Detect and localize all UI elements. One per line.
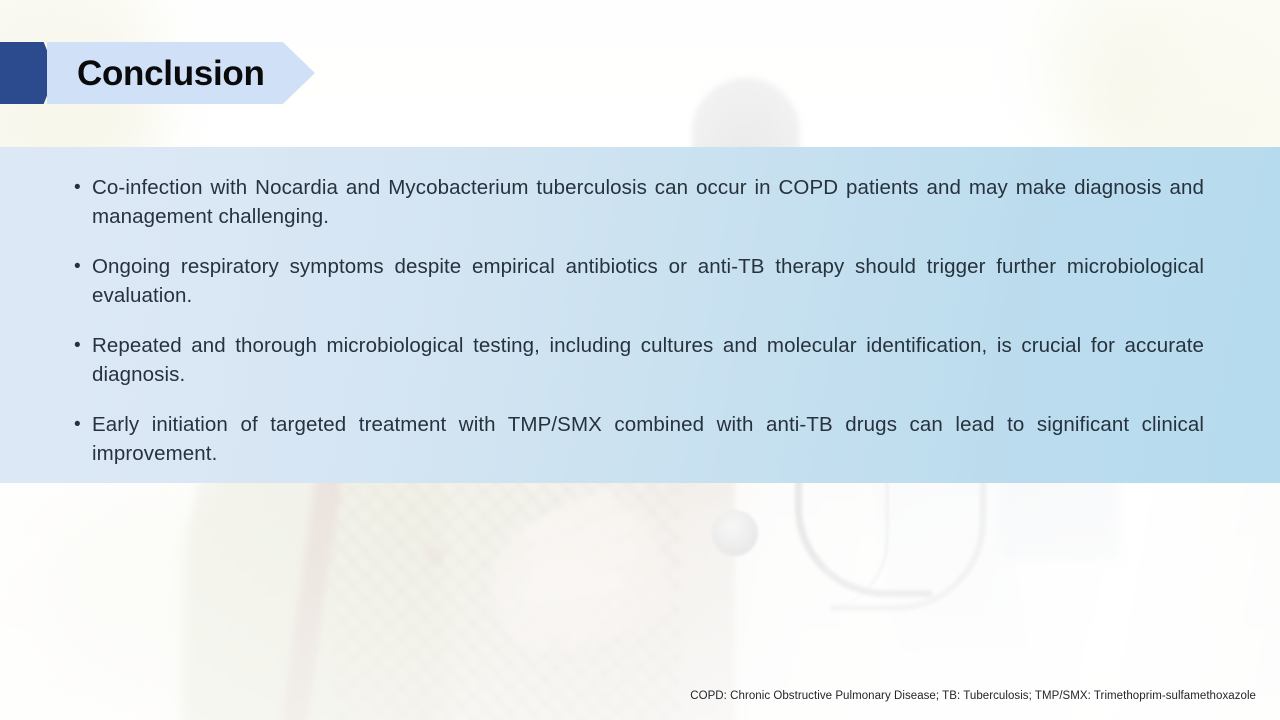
list-item: • Repeated and thorough microbiological …: [74, 331, 1204, 389]
abbreviation-footnote: COPD: Chronic Obstructive Pulmonary Dise…: [690, 690, 1256, 702]
content-panel: • Co-infection with Nocardia and Mycobac…: [0, 147, 1280, 483]
banner-light-chevron: Conclusion: [47, 42, 315, 104]
title-banner: Conclusion: [0, 42, 315, 104]
bullet-dot-icon: •: [74, 331, 92, 361]
bullet-text: Early initiation of targeted treatment w…: [92, 410, 1204, 468]
list-item: • Early initiation of targeted treatment…: [74, 410, 1204, 468]
bullet-text: Ongoing respiratory symptoms despite emp…: [92, 252, 1204, 310]
bullet-dot-icon: •: [74, 410, 92, 440]
bullet-dot-icon: •: [74, 252, 92, 282]
list-item: • Ongoing respiratory symptoms despite e…: [74, 252, 1204, 310]
slide-conclusion: Conclusion • Co-infection with Nocardia …: [0, 0, 1280, 720]
bullet-text: Co-infection with Nocardia and Mycobacte…: [92, 173, 1204, 231]
list-item: • Co-infection with Nocardia and Mycobac…: [74, 173, 1204, 231]
page-title: Conclusion: [47, 56, 265, 91]
bullet-list: • Co-infection with Nocardia and Mycobac…: [74, 173, 1204, 468]
bullet-text: Repeated and thorough microbiological te…: [92, 331, 1204, 389]
bullet-dot-icon: •: [74, 173, 92, 203]
